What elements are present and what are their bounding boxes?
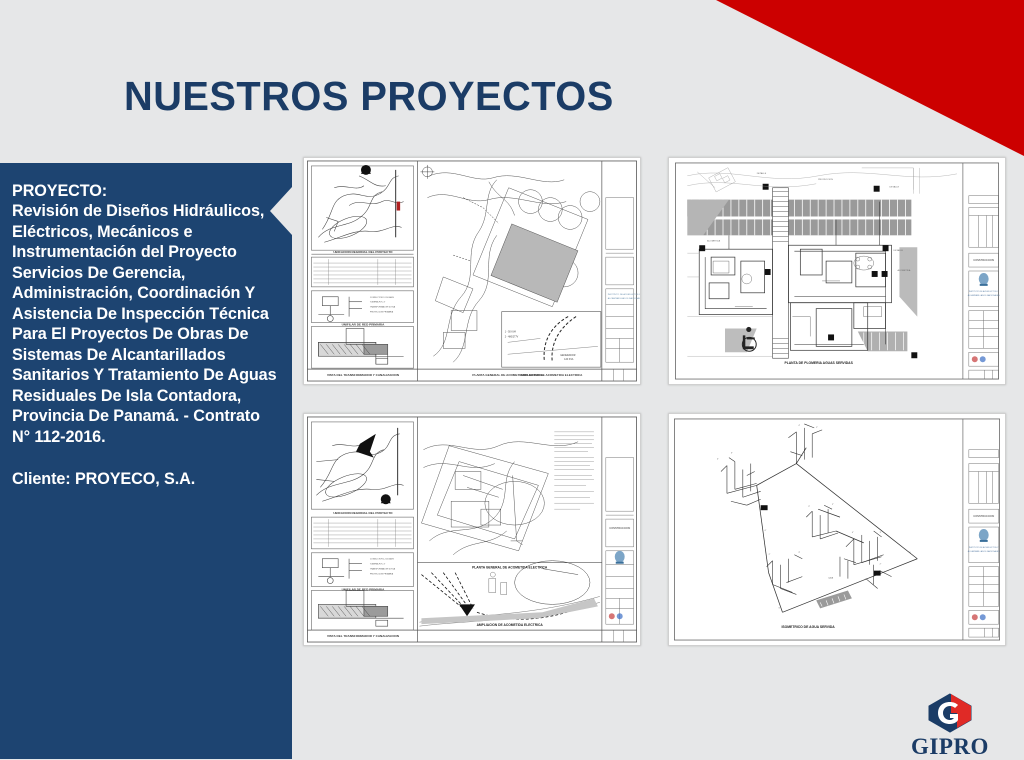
svg-text:1 - 50 KVA: 1 - 50 KVA xyxy=(505,330,517,333)
svg-text:AMPLIACION DE ACOMETIDA ELECTR: AMPLIACION DE ACOMETIDA ELECTRICA xyxy=(520,373,583,377)
svg-text:INSTITUTO DE ACUEDUCTOS Y: INSTITUTO DE ACUEDUCTOS Y xyxy=(608,293,640,296)
drawing-3-canvas: CONDUCTOR 2-#1/0 AWG TUBERIA PVC 4" TRAN… xyxy=(304,414,640,645)
project-info-panel: PROYECTO: Revisión de Diseños Hidráulico… xyxy=(0,163,292,759)
svg-text:UBICACION REGIONAL DEL PROYECT: UBICACION REGIONAL DEL PROYECTO xyxy=(333,250,393,254)
svg-text:TUBERIA PVC 4": TUBERIA PVC 4" xyxy=(370,563,386,566)
brand-logo: GIPRO xyxy=(898,693,1002,755)
drawing-2-canvas: DETALLE PROYECCION DETALLE DETALLE ACOME… xyxy=(669,158,1005,384)
svg-text:ALCANTARILLADOS NACIONALES: ALCANTARILLADOS NACIONALES xyxy=(968,550,1001,553)
svg-text:UNIFILAR DE RED PRIMARIA: UNIFILAR DE RED PRIMARIA xyxy=(342,323,385,327)
svg-text:VISTA DEL TRANSFORMADOR Y CANA: VISTA DEL TRANSFORMADOR Y CANALIZACION xyxy=(327,373,399,377)
svg-text:ISOMETRICO DE AGUA SERVIDA: ISOMETRICO DE AGUA SERVIDA xyxy=(781,625,835,629)
svg-text:TRANSFORMADOR 50 KVA: TRANSFORMADOR 50 KVA xyxy=(370,306,396,309)
svg-text:6": 6" xyxy=(765,530,767,532)
svg-text:DETALLE: DETALLE xyxy=(890,186,900,189)
svg-text:TRANSFORMADOR 50 KVA: TRANSFORMADOR 50 KVA xyxy=(370,568,396,571)
svg-text:CONSTRUCCION: CONSTRUCCION xyxy=(973,514,994,518)
svg-text:CONDUCTOR 2-#1/0 AWG: CONDUCTOR 2-#1/0 AWG xyxy=(370,558,394,561)
svg-text:2": 2" xyxy=(769,554,771,556)
svg-text:AMPLIACION DE ACOMETIDA ELECTR: AMPLIACION DE ACOMETIDA ELECTRICA xyxy=(477,623,544,627)
svg-text:DETALLE: DETALLE xyxy=(757,172,767,175)
svg-text:4": 4" xyxy=(717,459,719,461)
svg-text:CONSTRUCCION: CONSTRUCCION xyxy=(973,258,994,262)
svg-text:2 - 480/277V: 2 - 480/277V xyxy=(505,335,519,338)
svg-text:2": 2" xyxy=(816,427,818,429)
svg-text:3": 3" xyxy=(731,453,733,455)
brand-name: GIPRO xyxy=(898,734,1002,760)
svg-text:INSTITUTO DE ACUEDUCTOS Y: INSTITUTO DE ACUEDUCTOS Y xyxy=(969,290,999,293)
project-client: Cliente: PROYECO, S.A. xyxy=(12,470,278,489)
gipro-hexagon-g-icon xyxy=(927,693,973,733)
svg-text:ALCANTARILLADOS NACIONALES: ALCANTARILLADOS NACIONALES xyxy=(608,297,640,300)
project-heading: PROYECTO: xyxy=(12,181,278,201)
drawing-1-canvas: CONDUCTOR 2-#1/0 AWG TUBERIA PVC 4" TRAN… xyxy=(304,158,640,384)
svg-text:ALCANTARILLADOS NACIONALES: ALCANTARILLADOS NACIONALES xyxy=(968,294,1001,297)
project-description: Revisión de Diseños Hidráulicos, Eléctri… xyxy=(12,202,276,445)
svg-text:4": 4" xyxy=(852,532,854,534)
svg-text:4": 4" xyxy=(798,425,800,427)
svg-text:PLANTA DE PLOMERIA AGUAS SERVI: PLANTA DE PLOMERIA AGUAS SERVIDAS xyxy=(784,361,853,365)
svg-text:2": 2" xyxy=(832,504,834,506)
svg-text:3": 3" xyxy=(808,506,810,508)
svg-text:PLANTA GENERAL DE ACOMETIDA EL: PLANTA GENERAL DE ACOMETIDA ELECTRICA xyxy=(472,566,548,570)
svg-text:2": 2" xyxy=(880,564,882,566)
svg-text:CAJA: CAJA xyxy=(828,577,834,580)
svg-text:ACOMETIDA: ACOMETIDA xyxy=(897,269,910,272)
drawing-4-canvas: 4"3" 4"2" 3"2" 4"3" 2"3" 2" 6" CAJA S S … xyxy=(669,414,1005,645)
panel-notch-arrow-icon xyxy=(270,187,292,235)
svg-text:PROYECCION: PROYECCION xyxy=(818,179,833,181)
drawing-sheet-3[interactable]: CONDUCTOR 2-#1/0 AWG TUBERIA PVC 4" TRAN… xyxy=(303,413,641,646)
svg-text:120 KVA: 120 KVA xyxy=(564,358,574,361)
svg-text:3": 3" xyxy=(880,532,882,534)
svg-text:INSTITUTO DE ACUEDUCTOS Y: INSTITUTO DE ACUEDUCTOS Y xyxy=(969,546,999,549)
svg-text:UBICACION REGIONAL DEL PROYECT: UBICACION REGIONAL DEL PROYECTO xyxy=(333,511,393,515)
svg-text:GENERADOR: GENERADOR xyxy=(560,354,576,357)
svg-text:VISTA DEL TRANSFORMADOR Y CANA: VISTA DEL TRANSFORMADOR Y CANALIZACION xyxy=(327,634,399,638)
drawing-sheet-4[interactable]: 4"3" 4"2" 3"2" 4"3" 2"3" 2" 6" CAJA S S … xyxy=(668,413,1006,646)
svg-text:CONDUCTOR 2-#1/0 AWG: CONDUCTOR 2-#1/0 AWG xyxy=(370,296,394,299)
svg-text:ACOMETIDA: ACOMETIDA xyxy=(707,239,720,242)
page-title: NUESTROS PROYECTOS xyxy=(124,73,614,120)
svg-text:CONSTRUCCION: CONSTRUCCION xyxy=(609,526,630,530)
svg-text:DETALLE: DETALLE xyxy=(894,249,904,252)
svg-text:TUBERIA PVC 4": TUBERIA PVC 4" xyxy=(370,301,386,304)
svg-text:UNIFILAR DE RED PRIMARIA: UNIFILAR DE RED PRIMARIA xyxy=(342,587,385,591)
svg-text:3": 3" xyxy=(798,552,800,554)
drawing-sheet-1[interactable]: CONDUCTOR 2-#1/0 AWG TUBERIA PVC 4" TRAN… xyxy=(303,157,641,385)
svg-text:PROTECCION PRIMARIA: PROTECCION PRIMARIA xyxy=(370,311,394,314)
project-description-block: PROYECTO: Revisión de Diseños Hidráulico… xyxy=(12,181,278,447)
drawing-sheet-2[interactable]: DETALLE PROYECCION DETALLE DETALLE ACOME… xyxy=(668,157,1006,385)
svg-text:PROTECCION PRIMARIA: PROTECCION PRIMARIA xyxy=(370,573,394,576)
